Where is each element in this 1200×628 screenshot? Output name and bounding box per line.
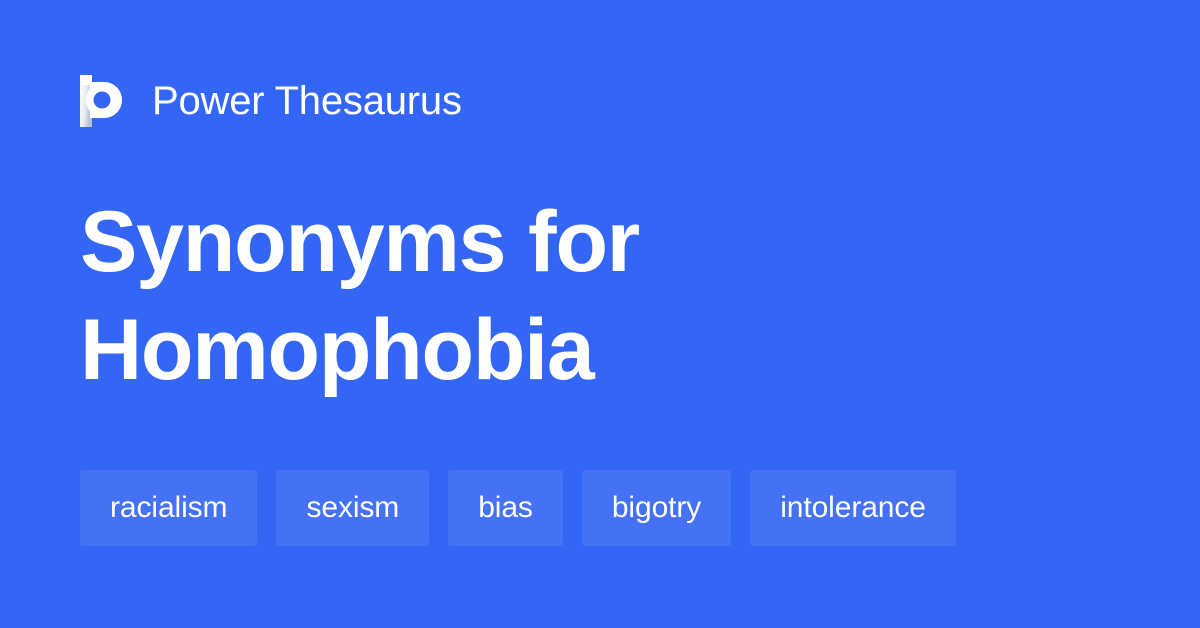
power-thesaurus-b-logo-icon <box>80 75 124 127</box>
share-card: Power Thesaurus Synonyms for Homophobia … <box>0 0 1200 628</box>
page-title: Synonyms for Homophobia <box>80 188 1120 404</box>
brand-header[interactable]: Power Thesaurus <box>80 72 462 130</box>
synonym-chip-list: racialism sexism bias bigotry intoleranc… <box>80 470 1140 546</box>
synonym-chip[interactable]: bias <box>448 470 563 546</box>
synonym-chip[interactable]: intolerance <box>750 470 956 546</box>
headline-line-1: Synonyms for <box>80 188 1120 296</box>
synonym-chip[interactable]: bigotry <box>582 470 731 546</box>
synonym-chip[interactable]: sexism <box>276 470 429 546</box>
headline-line-2: Homophobia <box>80 296 1120 404</box>
brand-name: Power Thesaurus <box>152 81 462 121</box>
synonym-chip[interactable]: racialism <box>80 470 257 546</box>
